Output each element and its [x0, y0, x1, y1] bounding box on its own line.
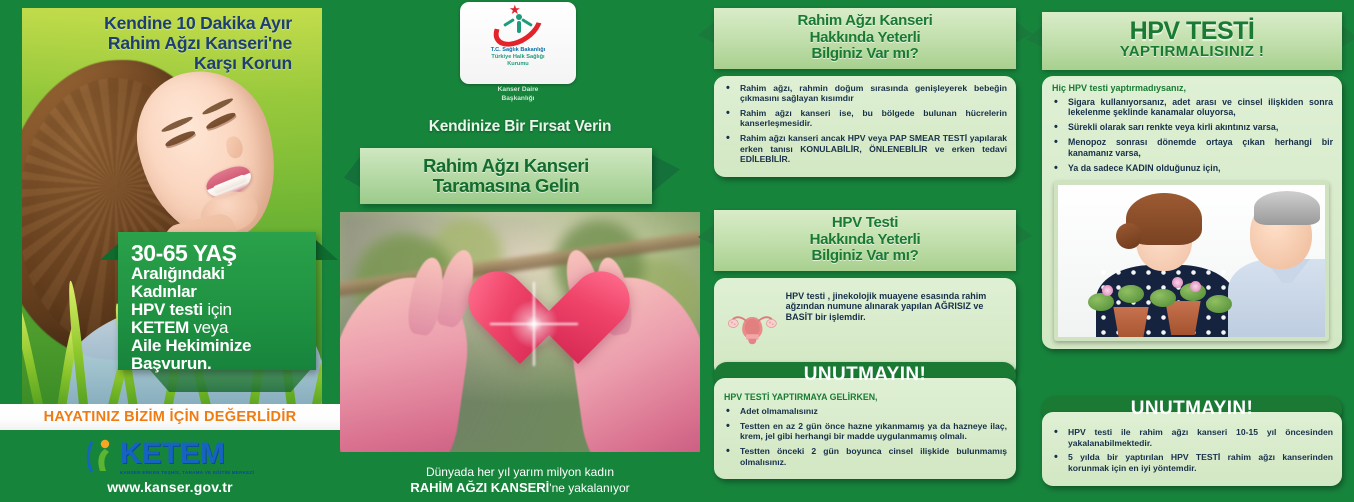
- brochure-sheet: Kendine 10 Dakika Ayır Rahim Ağzı Kanser…: [0, 0, 1354, 502]
- unutmayin-bullet-list: HPV testi ile rahim ağzı kanseri 10-15 y…: [1050, 427, 1333, 474]
- card-unutmayin-prep: HPV TESTİ YAPTIRMAYA GELİRKEN, Adet olma…: [714, 378, 1016, 479]
- leaf: [1118, 285, 1144, 303]
- leaf: [1088, 293, 1114, 311]
- moh-emblem-icon: ★: [487, 5, 549, 45]
- website-url[interactable]: www.kanser.gov.tr: [107, 479, 233, 495]
- human-figure-icon: [512, 14, 525, 36]
- banner-line-2: Hakkında Yeterli: [724, 232, 1006, 249]
- flower: [1172, 277, 1183, 288]
- greenbox-line2: Aralığındaki: [131, 264, 225, 283]
- sparkle-icon: [506, 296, 562, 352]
- list-item: Sürekli olarak sarı renkte veya kirli ak…: [1050, 122, 1333, 133]
- man-hair: [1254, 191, 1320, 225]
- flower: [1190, 281, 1201, 292]
- ribbon-wing-right: [650, 154, 680, 194]
- ministry-of-health-logo: ★ T.C. Sağlık Bakanlığı Türkiye Halk Sağ…: [460, 2, 576, 84]
- headline-line-1: Kendine 10 Dakika Ayır: [40, 14, 292, 34]
- uterus-diagram-icon: [726, 287, 779, 367]
- section-hpv-info: HPV Testi Hakkında Yeterli Bilginiz Var …: [714, 210, 1016, 377]
- unutmayin-title: UNUTMAYIN!: [804, 364, 927, 385]
- hpv-test-subtitle: YAPTIRMALISINIZ !: [1052, 44, 1332, 61]
- hand-left: [340, 268, 477, 452]
- banner-cervical: Rahim Ağzı Kanseri Hakkında Yeterli Bilg…: [714, 8, 1016, 69]
- panel2-ribbon-banner: Rahim Ağzı Kanseri Taramasına Gelin: [360, 148, 652, 204]
- section-hpv-test: HPV TESTİ YAPTIRMALISINIZ ! Hiç HPV test…: [1042, 12, 1342, 349]
- section-cervical-info: Rahim Ağzı Kanseri Hakkında Yeterli Bilg…: [714, 8, 1016, 177]
- hpv-test-title: HPV TESTİ: [1052, 19, 1332, 44]
- panel2-subtitle: Kendinize Bir Fırsat Verin: [362, 118, 678, 136]
- elderly-couple-photo: [1054, 181, 1329, 341]
- greenbox-line7: Başvurun.: [131, 354, 211, 373]
- banner-hpv-wrap: HPV Testi Hakkında Yeterli Bilginiz Var …: [714, 210, 1016, 271]
- banner-hpv-test-wrap: HPV TESTİ YAPTIRMALISINIZ !: [1042, 12, 1342, 70]
- list-item: HPV testi ile rahim ağzı kanseri 10-15 y…: [1050, 427, 1333, 448]
- caption-rest: 'ne yakalanıyor: [549, 481, 629, 495]
- list-item: Rahim ağzı kanseri ise, bu bölgede bulun…: [722, 108, 1007, 129]
- list-item: Testten önceki 2 gün boyunca cinsel iliş…: [722, 446, 1007, 467]
- ketem-logo: KETEM KANSER ERKEN TEŞHİS, TARAMA VE EĞİ…: [86, 438, 254, 476]
- greenbox-hpv: HPV testi: [131, 300, 203, 319]
- list-item: Adet olmamalısınız: [722, 406, 1007, 417]
- slogan-bar: HAYATINIZ BİZİM İÇİN DEĞERLİDİR: [0, 404, 340, 430]
- department-label: Kanser Daire Başkanlığı: [460, 86, 576, 103]
- callout-age-box: 30-65 YAŞ Aralığındaki Kadınlar HPV test…: [118, 232, 316, 370]
- ribbon-line-1: Rahim Ağzı Kanseri: [423, 156, 589, 176]
- panel2-caption: Dünyada her yıl yarım milyon kadın RAHİM…: [350, 465, 690, 496]
- panel-center-heart: ★ T.C. Sağlık Bakanlığı Türkiye Halk Sağ…: [340, 0, 700, 502]
- section-unutmayin-prep: UNUTMAYIN! HPV TESTİ YAPTIRMAYA GELİRKEN…: [714, 362, 1016, 479]
- ketem-logo-block: KETEM KANSER ERKEN TEŞHİS, TARAMA VE EĞİ…: [0, 430, 340, 502]
- leaf: [1206, 295, 1232, 313]
- list-item: Menopoz sonrası dönemde ortaya çıkan her…: [1050, 137, 1333, 159]
- eye-left: [164, 129, 196, 148]
- moh-line-2: Türkiye Halk Sağlığı: [491, 54, 544, 61]
- cervical-bullet-list: Rahim ağzı, rahmin doğum sırasında geniş…: [722, 83, 1007, 166]
- ribbon-fold-right: [316, 240, 338, 260]
- card-hpv-test: Hiç HPV testi yaptırmadıysanız, Sigara k…: [1042, 76, 1342, 349]
- greenbox-icin: için: [203, 300, 232, 319]
- department-line-1: Kanser Daire: [460, 86, 576, 95]
- banner-line-1: HPV Testi: [724, 215, 1006, 232]
- list-item: Ya da sadece KADIN olduğunuz için,: [1050, 163, 1333, 174]
- flower: [1102, 285, 1113, 296]
- page-title: Kendine 10 Dakika Ayır Rahim Ağzı Kanser…: [40, 14, 292, 73]
- list-item: Rahim ağzı, rahmin doğum sırasında geniş…: [722, 83, 1007, 104]
- banner-line-1: Rahim Ağzı Kanseri: [724, 13, 1006, 30]
- panel-hpv-test: HPV TESTİ YAPTIRMALISINIZ ! Hiç HPV test…: [1030, 0, 1354, 502]
- banner-hpv-test: HPV TESTİ YAPTIRMALISINIZ !: [1042, 12, 1342, 70]
- unutmayin-title: UNUTMAYIN!: [1131, 398, 1254, 419]
- ketem-subtitle: KANSER ERKEN TEŞHİS, TARAMA VE EĞİTİM ME…: [120, 470, 254, 475]
- section-unutmayin-hpv: UNUTMAYIN! HPV testi ile rahim ağzı kans…: [1042, 396, 1342, 486]
- prep-lead-text: HPV TESTİ YAPTIRMAYA GELİRKEN,: [724, 392, 1007, 402]
- hpv-lead-text: Hiç HPV testi yaptırmadıysanız,: [1052, 83, 1333, 93]
- caption-bold: RAHİM AĞZI KANSERİ: [410, 480, 549, 495]
- greenbox-line3: Kadınlar: [131, 282, 197, 301]
- list-item: Rahim ağzı kanseri ancak HPV veya PAP SM…: [722, 133, 1007, 165]
- greenbox-ketem: KETEM: [131, 318, 189, 337]
- banner-hpv: HPV Testi Hakkında Yeterli Bilginiz Var …: [714, 210, 1016, 271]
- ketem-wordmark: KETEM: [120, 439, 254, 469]
- prep-bullet-list: Adet olmamalısınız Testten en az 2 gün ö…: [722, 406, 1007, 467]
- moh-line-1: T.C. Sağlık Bakanlığı: [491, 47, 545, 54]
- banner-cervical-wrap: Rahim Ağzı Kanseri Hakkında Yeterli Bilg…: [714, 8, 1016, 69]
- panel-info-cervical: Rahim Ağzı Kanseri Hakkında Yeterli Bilg…: [700, 0, 1030, 502]
- department-line-2: Başkanlığı: [460, 95, 576, 104]
- greenbox-line6: Aile Hekiminize: [131, 336, 251, 355]
- list-item: 5 yılda bir yaptırılan HPV TESTİ rahim a…: [1050, 452, 1333, 473]
- caption-line-1: Dünyada her yıl yarım milyon kadın: [350, 465, 690, 480]
- card-cervical-info: Rahim ağzı, rahmin doğum sırasında geniş…: [714, 76, 1016, 178]
- headline-line-3: Karşı Korun: [40, 54, 292, 74]
- leaf: [1150, 289, 1176, 307]
- panel-left-woman: Kendine 10 Dakika Ayır Rahim Ağzı Kanser…: [0, 0, 340, 502]
- hpv-bullet-list: Sigara kullanıyorsanız, adet arası ve ci…: [1050, 97, 1333, 174]
- hpv-description-text: HPV testi , jinekolojik muayene esasında…: [786, 287, 1005, 324]
- eye-right: [205, 110, 237, 130]
- banner-line-2: Hakkında Yeterli: [724, 30, 1006, 47]
- age-range: 30-65 YAŞ: [131, 241, 308, 265]
- headline-line-2: Rahim Ağzı Kanseri'ne: [40, 34, 292, 54]
- woman-hair-bun: [1116, 223, 1142, 249]
- nose-shape: [225, 135, 244, 159]
- hands-heart-photo: [340, 212, 700, 452]
- moh-line-3: Kurumu: [507, 61, 528, 68]
- ketem-person-icon: [86, 438, 116, 476]
- card-unutmayin-hpv: HPV testi ile rahim ağzı kanseri 10-15 y…: [1042, 412, 1342, 486]
- list-item: Sigara kullanıyorsanız, adet arası ve ci…: [1050, 97, 1333, 119]
- greenbox-veya: veya: [189, 318, 228, 337]
- banner-line-3: Bilginiz Var mı?: [724, 46, 1006, 63]
- list-item: Testten en az 2 gün önce hazne yıkanmamı…: [722, 421, 1007, 442]
- banner-line-3: Bilginiz Var mı?: [724, 248, 1006, 265]
- ribbon-line-2: Taramasına Gelin: [433, 176, 579, 196]
- slogan-text: HAYATINIZ BİZİM İÇİN DEĞERLİDİR: [44, 409, 297, 425]
